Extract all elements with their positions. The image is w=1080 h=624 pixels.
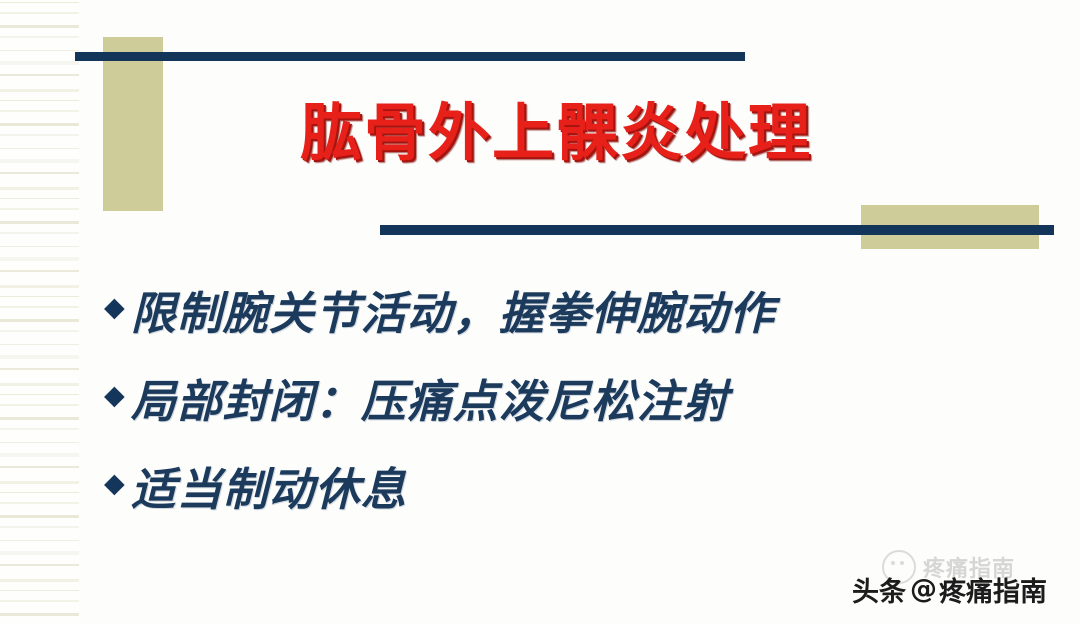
stripe-line — [0, 306, 79, 308]
stripe-line — [0, 221, 79, 224]
watermark: 疼痛指南 头条 @ 疼痛指南 — [852, 548, 1080, 620]
stripe-line — [0, 442, 79, 443]
left-stripe-decoration — [0, 0, 79, 624]
stripe-line — [0, 404, 79, 406]
diamond-bullet-icon: ◆ — [104, 382, 125, 409]
stripe-line — [0, 319, 79, 322]
navy-rule-middle — [380, 225, 1054, 235]
stripe-line — [0, 515, 79, 518]
bullet-item-3-label: 适当制动休息 — [131, 453, 407, 518]
stripe-line — [0, 134, 79, 136]
stripe-line — [0, 579, 79, 582]
stripe-line — [0, 428, 79, 430]
stripe-line — [0, 492, 79, 493]
watermark-platform: 头条 — [852, 570, 906, 609]
bullet-item-1: ◆ 限制腕关节活动，握拳伸腕动作 — [104, 272, 1004, 346]
watermark-account: 疼痛指南 — [939, 570, 1047, 609]
stripe-line — [0, 159, 79, 163]
stripe-line — [0, 89, 79, 92]
slide-canvas: 肱骨外上髁炎处理 ◆ 限制腕关节活动，握拳伸腕动作 ◆ 局部封闭：压痛点泼尼松注… — [0, 0, 1080, 624]
stripe-line — [0, 330, 79, 332]
stripe-line — [0, 172, 79, 174]
stripe-line — [0, 232, 79, 234]
bullet-list: ◆ 限制腕关节活动，握拳伸腕动作 ◆ 局部封闭：压痛点泼尼松注射 ◆ 适当制动休… — [104, 272, 1004, 536]
bullet-item-2-label: 局部封闭：压痛点泼尼松注射 — [131, 365, 729, 430]
bullet-item-2: ◆ 局部封闭：压痛点泼尼松注射 — [104, 360, 1004, 434]
stripe-line — [0, 368, 79, 370]
stripe-line — [0, 25, 79, 28]
stripe-line — [0, 481, 79, 484]
diamond-bullet-icon: ◆ — [104, 294, 125, 321]
stripe-line — [0, 110, 79, 112]
stripe-line — [0, 74, 79, 76]
stripe-line — [0, 564, 79, 566]
stripe-line — [0, 285, 79, 288]
stripe-line — [0, 417, 79, 420]
stripe-line — [0, 296, 79, 297]
bullet-item-3: ◆ 适当制动休息 — [104, 448, 1004, 522]
stripe-line — [0, 466, 79, 468]
stripe-line — [0, 613, 79, 616]
bullet-item-1-label: 限制腕关节活动，握拳伸腕动作 — [131, 277, 775, 342]
stripe-line — [0, 123, 79, 126]
watermark-at-symbol: @ — [910, 574, 937, 605]
diamond-bullet-icon: ◆ — [104, 470, 125, 497]
stripe-line — [0, 2, 79, 3]
stripe-line — [0, 50, 79, 51]
stripe-line — [0, 344, 79, 345]
stripe-line — [0, 383, 79, 386]
watermark-main-layer: 头条 @ 疼痛指南 — [852, 570, 1047, 609]
stripe-line — [0, 394, 79, 395]
stripe-line — [0, 453, 79, 457]
stripe-line — [0, 187, 79, 190]
stripe-line — [0, 270, 79, 272]
stripe-line — [0, 502, 79, 504]
navy-rule-top — [75, 52, 745, 61]
stripe-line — [0, 208, 79, 210]
stripe-line — [0, 12, 79, 14]
stripe-line — [0, 36, 79, 38]
stripe-line — [0, 257, 79, 261]
stripe-line — [0, 540, 79, 541]
stripe-line — [0, 246, 79, 247]
khaki-accent-block-left — [103, 37, 163, 211]
stripe-line — [0, 100, 79, 101]
stripe-line — [0, 148, 79, 149]
stripe-line — [0, 600, 79, 602]
stripe-line — [0, 526, 79, 528]
stripe-line — [0, 590, 79, 591]
stripe-line — [0, 355, 79, 359]
slide-title: 肱骨外上髁炎处理 — [300, 90, 900, 176]
stripe-line — [0, 198, 79, 199]
stripe-line — [0, 551, 79, 555]
stripe-line — [0, 61, 79, 65]
